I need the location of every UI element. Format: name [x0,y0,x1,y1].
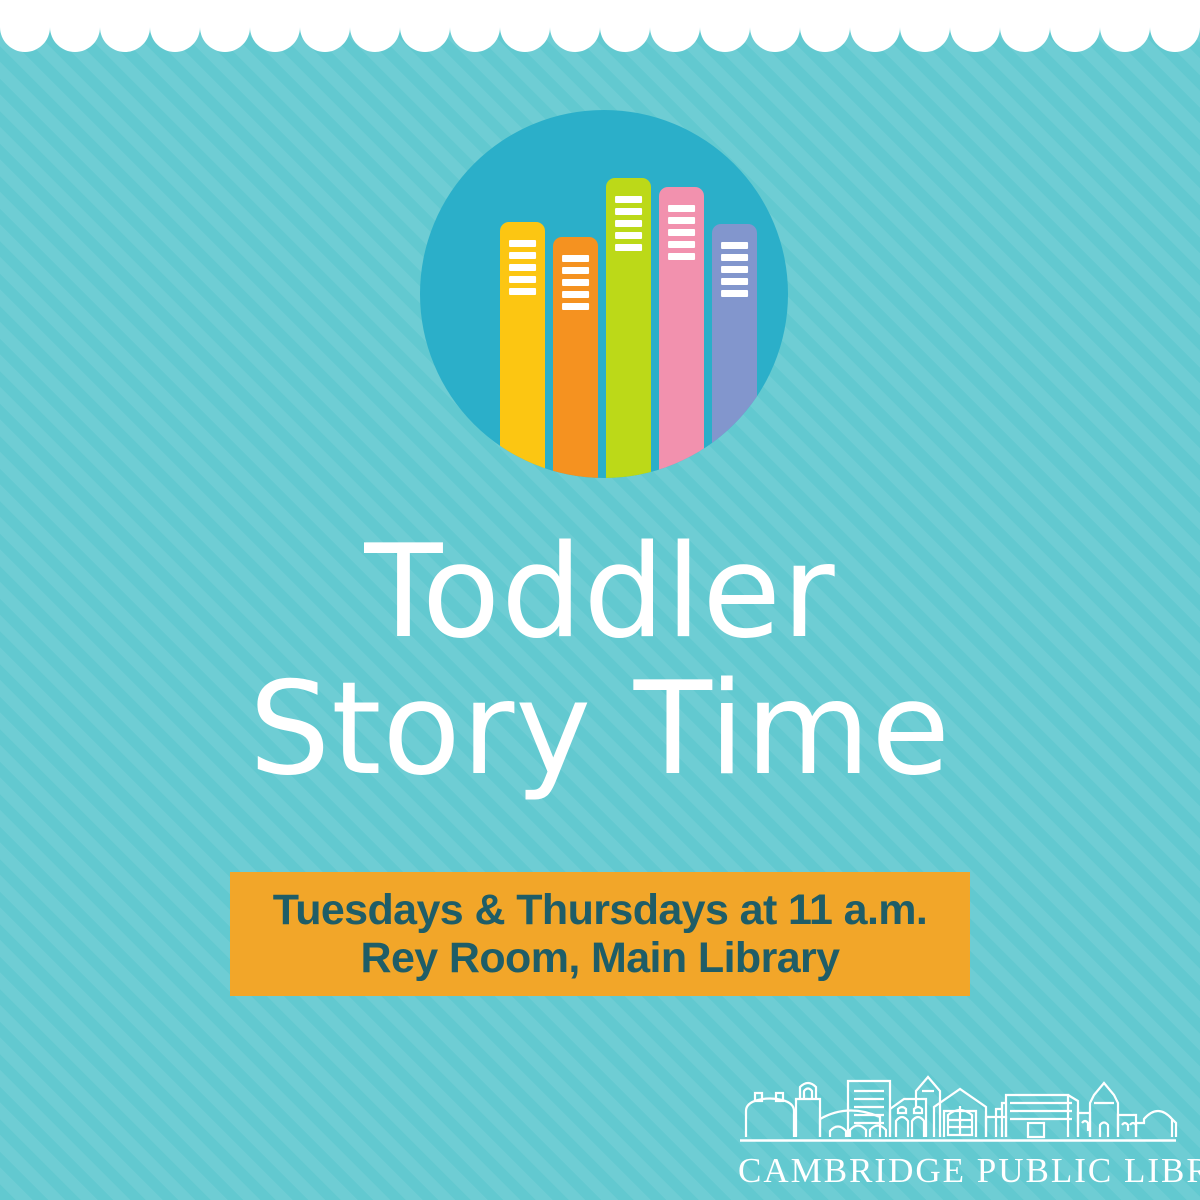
book-orange [553,237,598,478]
poster-canvas: Toddler Story Time Tuesdays & Thursdays … [0,0,1200,1200]
book-yellow-lines [509,240,537,295]
book-green [606,178,651,478]
book-badge [420,110,788,478]
books-group [420,110,788,478]
library-wordmark: CAMBRIDGE PUBLIC LIBRARY [738,1153,1178,1188]
book-purple-lines [721,242,749,297]
book-pink-lines [668,205,696,260]
event-location-text: Rey Room, Main Library [360,934,839,982]
cambridge-skyline-icon [738,1073,1178,1151]
event-details-banner: Tuesdays & Thursdays at 11 a.m. Rey Room… [230,872,970,996]
book-yellow [500,222,545,478]
library-logo: CAMBRIDGE PUBLIC LIBRARY [738,1073,1178,1188]
book-pink [659,187,704,478]
book-orange-lines [562,255,590,310]
page-title: Toddler Story Time [0,528,1200,795]
page-title-line-2: Story Time [0,665,1200,796]
book-purple [712,224,757,478]
event-schedule-text: Tuesdays & Thursdays at 11 a.m. [273,886,928,934]
book-green-lines [615,196,643,251]
scalloped-top-border [0,0,1200,52]
page-title-line-1: Toddler [0,528,1200,659]
